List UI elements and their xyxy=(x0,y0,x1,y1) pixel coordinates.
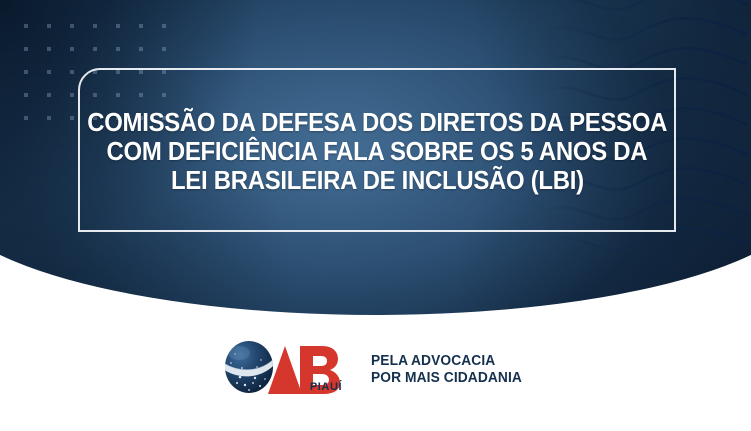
grid-dot xyxy=(70,116,74,120)
poster-canvas: COMISSÃO DA DEFESA DOS DIRETOS DA PESSOA… xyxy=(0,0,751,431)
grid-dot xyxy=(139,24,143,28)
tagline-line-2: POR MAIS CIDADANIA xyxy=(371,370,522,387)
oab-logo-row: PELA ADVOCACIA POR MAIS CIDADANIA xyxy=(221,339,530,401)
grid-dot xyxy=(47,116,51,120)
grid-dot xyxy=(93,47,97,51)
grid-dot xyxy=(47,47,51,51)
grid-dot xyxy=(70,70,74,74)
header-blue-panel: COMISSÃO DA DEFESA DOS DIRETOS DA PESSOA… xyxy=(0,0,751,315)
grid-dot xyxy=(93,24,97,28)
oab-logo-area: PELA ADVOCACIA POR MAIS CIDADANIA xyxy=(0,330,751,410)
oab-globe-icon xyxy=(221,341,277,393)
grid-dot xyxy=(70,47,74,51)
grid-dot xyxy=(47,24,51,28)
header-panel-content: COMISSÃO DA DEFESA DOS DIRETOS DA PESSOA… xyxy=(0,0,751,315)
oab-tagline: PELA ADVOCACIA POR MAIS CIDADANIA xyxy=(371,353,522,387)
grid-dot xyxy=(24,24,28,28)
grid-dot xyxy=(24,116,28,120)
grid-dot xyxy=(70,24,74,28)
oab-section-label: PIAUÍ xyxy=(289,381,363,393)
grid-dot xyxy=(116,47,120,51)
grid-dot xyxy=(47,70,51,74)
grid-dot xyxy=(116,24,120,28)
grid-dot xyxy=(139,47,143,51)
title-line-1: COMISSÃO DA DEFESA DOS DIRETOS DA PESSOA xyxy=(87,108,667,136)
grid-dot xyxy=(24,47,28,51)
title-line-3: LEI BRASILEIRA DE INCLUSÃO (LBI) xyxy=(171,166,584,194)
grid-dot xyxy=(70,93,74,97)
grid-dot xyxy=(24,93,28,97)
page-title: COMISSÃO DA DEFESA DOS DIRETOS DA PESSOA… xyxy=(78,86,676,216)
title-line-2: COM DEFICIÊNCIA FALA SOBRE OS 5 ANOS DA xyxy=(107,137,648,165)
grid-dot xyxy=(162,24,166,28)
grid-dot xyxy=(24,70,28,74)
grid-dot xyxy=(47,93,51,97)
tagline-line-1: PELA ADVOCACIA xyxy=(371,353,522,370)
grid-dot xyxy=(162,47,166,51)
